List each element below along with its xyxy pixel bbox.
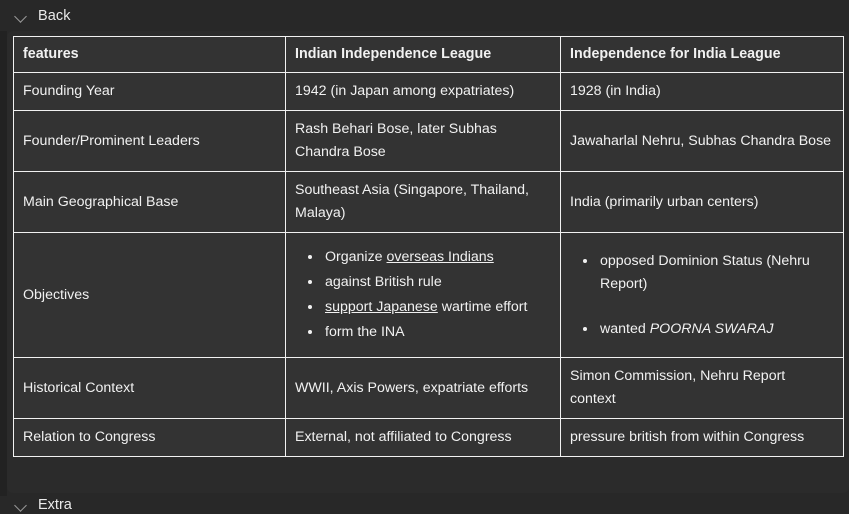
table-row: Founding Year 1942 (in Japan among expat… — [14, 73, 844, 111]
cell-ifil-historical-context: Simon Commission, Nehru Report context — [561, 358, 844, 419]
cell-iil-geographical-base: Southeast Asia (Singapore, Thailand, Mal… — [286, 172, 561, 233]
cell-iil-founders: Rash Behari Bose, later Subhas Chandra B… — [286, 111, 561, 172]
table-header-row: features Indian Independence League Inde… — [14, 37, 844, 73]
list-item: support Japanese wartime effort — [323, 296, 551, 319]
cell-ifil-relation-to-congress: pressure british from within Congress — [561, 419, 844, 457]
cell-ifil-founders: Jawaharlal Nehru, Subhas Chandra Bose — [561, 111, 844, 172]
table-row: Relation to Congress External, not affil… — [14, 419, 844, 457]
row-feature-objectives: Objectives — [14, 233, 286, 358]
extra-label: Extra — [38, 497, 72, 513]
objectives-list-iil: Organize overseas Indiansagainst British… — [295, 246, 551, 344]
row-feature-relation-to-congress: Relation to Congress — [14, 419, 286, 457]
cell-iil-relation-to-congress: External, not affiliated to Congress — [286, 419, 561, 457]
table-row: Historical Context WWII, Axis Powers, ex… — [14, 358, 844, 419]
back-bar[interactable]: Back — [0, 0, 849, 31]
chevron-down-icon — [14, 9, 28, 23]
comparison-table: features Indian Independence League Inde… — [13, 36, 844, 457]
row-feature-geographical-base: Main Geographical Base — [14, 172, 286, 233]
underlined-text: support Japanese — [325, 299, 438, 315]
row-feature-historical-context: Historical Context — [14, 358, 286, 419]
chevron-down-icon — [14, 498, 28, 512]
table-card: features Indian Independence League Inde… — [7, 31, 849, 493]
left-gutter — [0, 0, 7, 514]
column-header-features: features — [14, 37, 286, 73]
row-feature-founding-year: Founding Year — [14, 73, 286, 111]
table-row: Objectives Organize overseas Indiansagai… — [14, 233, 844, 358]
list-item: against British rule — [323, 271, 551, 294]
table-row: Main Geographical Base Southeast Asia (S… — [14, 172, 844, 233]
list-item: opposed Dominion Status (Nehru Report) — [598, 250, 834, 296]
cell-ifil-geographical-base: India (primarily urban centers) — [561, 172, 844, 233]
cell-iil-objectives: Organize overseas Indiansagainst British… — [286, 233, 561, 358]
extra-bar[interactable]: Extra — [0, 496, 849, 514]
column-header-ifil: Independence for India League — [561, 37, 844, 73]
cell-iil-historical-context: WWII, Axis Powers, expatriate efforts — [286, 358, 561, 419]
back-label: Back — [38, 8, 71, 24]
objectives-list-ifil: opposed Dominion Status (Nehru Report)wa… — [570, 250, 834, 341]
cell-iil-founding-year: 1942 (in Japan among expatriates) — [286, 73, 561, 111]
list-item: Organize overseas Indians — [323, 246, 551, 269]
row-feature-founders: Founder/Prominent Leaders — [14, 111, 286, 172]
column-header-iil: Indian Independence League — [286, 37, 561, 73]
cell-ifil-founding-year: 1928 (in India) — [561, 73, 844, 111]
cell-ifil-objectives: opposed Dominion Status (Nehru Report)wa… — [561, 233, 844, 358]
list-item: wanted POORNA SWARAJ — [598, 318, 834, 341]
underlined-text: overseas Indians — [387, 249, 494, 265]
app-root: Back features Indian Independence League… — [0, 0, 849, 514]
italic-text: POORNA SWARAJ — [650, 321, 774, 337]
table-row: Founder/Prominent Leaders Rash Behari Bo… — [14, 111, 844, 172]
list-item: form the INA — [323, 321, 551, 344]
